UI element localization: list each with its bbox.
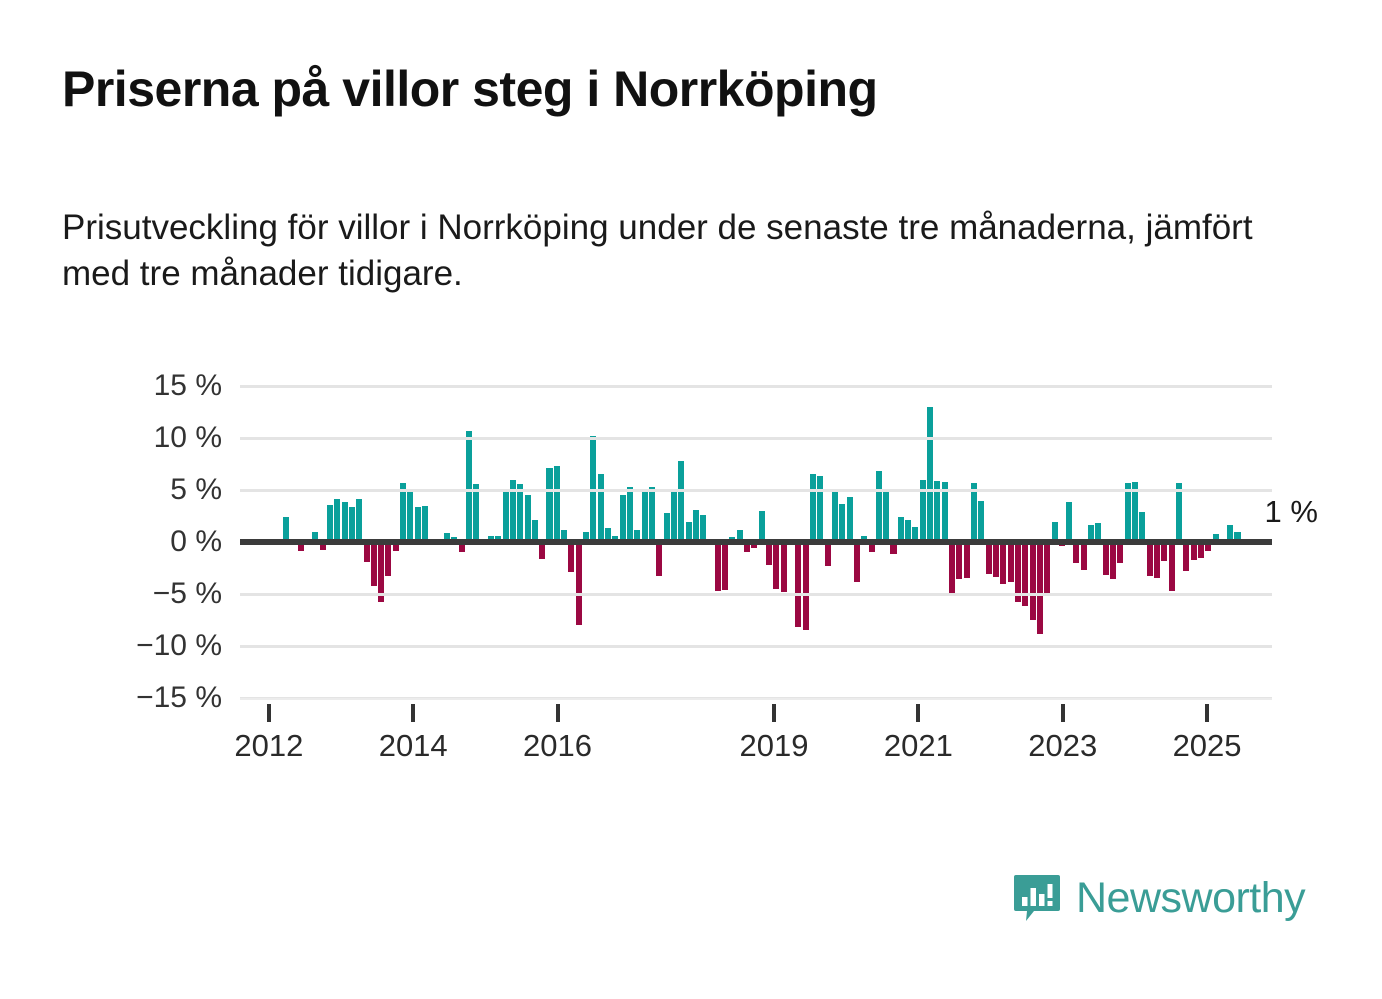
last-value-annotation: 1 % [1264,494,1317,530]
x-axis-tick [411,704,415,722]
chart-page: Priserna på villor steg i Norrköping Pri… [0,0,1382,999]
x-axis-tick-label: 2021 [884,728,953,764]
x-axis-tick-label: 2019 [740,728,809,764]
x-axis-tick-label: 2016 [523,728,592,764]
x-axis-tick [1205,704,1209,722]
bar-chart: 15 %10 %5 %0 %−5 %−10 %−15 % 20122014201… [0,360,1382,770]
x-axis-tick [916,704,920,722]
y-axis-tick-label: −15 % [62,681,222,715]
x-axis: 2012201420162019202120232025 [240,698,1272,768]
zero-line [240,539,1272,545]
y-axis-tick-label: −5 % [62,577,222,611]
y-axis-tick-label: −10 % [62,629,222,663]
logo-wordmark: Newsworthy [1076,874,1305,923]
x-axis-tick-label: 2012 [234,728,303,764]
x-axis-tick [267,704,271,722]
x-axis-tick [1061,704,1065,722]
x-axis-tick-label: 2023 [1028,728,1097,764]
x-axis-tick [772,704,776,722]
y-axis-tick-label: 0 % [62,525,222,559]
y-axis-tick-label: 15 % [62,369,222,403]
x-axis-tick [556,704,560,722]
x-axis-line [240,698,1272,700]
newsworthy-logo: Newsworthy [1012,873,1305,923]
x-axis-tick-label: 2014 [379,728,448,764]
page-title: Priserna på villor steg i Norrköping [62,62,1322,117]
y-axis-tick-label: 10 % [62,421,222,455]
bar-chart-speech-bubble-icon [1012,873,1062,923]
y-axis-tick-label: 5 % [62,473,222,507]
x-axis-tick-label: 2025 [1173,728,1242,764]
page-subtitle: Prisutveckling för villor i Norrköping u… [62,205,1312,297]
